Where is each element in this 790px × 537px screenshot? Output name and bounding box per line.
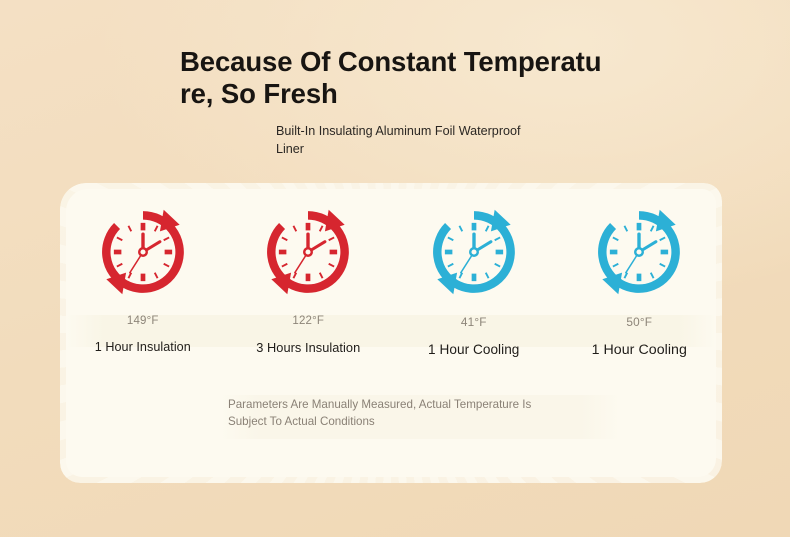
list-item: 149°F 1 Hour Insulation bbox=[60, 205, 226, 358]
feature-card: 149°F 1 Hour Insulation bbox=[60, 183, 722, 483]
promo-banner: Because Of Constant Temperature, So Fres… bbox=[0, 0, 790, 537]
page-title-line-2: e, So Fresh bbox=[191, 78, 338, 109]
spec-item-list: 149°F 1 Hour Insulation bbox=[60, 205, 722, 358]
page-subtitle-line-1: Built-In Insulating Aluminum Foil Waterp… bbox=[276, 124, 503, 138]
list-item-label: 1 Hour Cooling bbox=[428, 342, 519, 357]
page-title: Because Of Constant Temperature, So Fres… bbox=[180, 46, 604, 111]
page-subtitle: Built-In Insulating Aluminum Foil Waterp… bbox=[276, 123, 526, 159]
list-item-label: 1 Hour Insulation bbox=[95, 340, 191, 354]
temperature-value: 149°F bbox=[127, 315, 159, 327]
clock-rotate-icon bbox=[592, 205, 686, 299]
temperature-value: 41°F bbox=[461, 315, 487, 329]
clock-rotate-icon bbox=[261, 205, 355, 299]
clock-rotate-icon bbox=[96, 205, 190, 299]
list-item: 41°F 1 Hour Cooling bbox=[391, 205, 557, 358]
temperature-value: 122°F bbox=[292, 315, 324, 327]
clock-rotate-icon bbox=[427, 205, 521, 299]
temperature-value: 50°F bbox=[626, 315, 652, 329]
disclaimer-text: Parameters Are Manually Measured, Actual… bbox=[228, 397, 568, 431]
list-item-label: 3 Hours Insulation bbox=[256, 340, 360, 355]
list-item: 50°F 1 Hour Cooling bbox=[557, 205, 723, 358]
list-item: 122°F 3 Hours Insulation bbox=[226, 205, 392, 358]
card-content: 149°F 1 Hour Insulation bbox=[60, 183, 722, 483]
list-item-label: 1 Hour Cooling bbox=[592, 342, 687, 358]
